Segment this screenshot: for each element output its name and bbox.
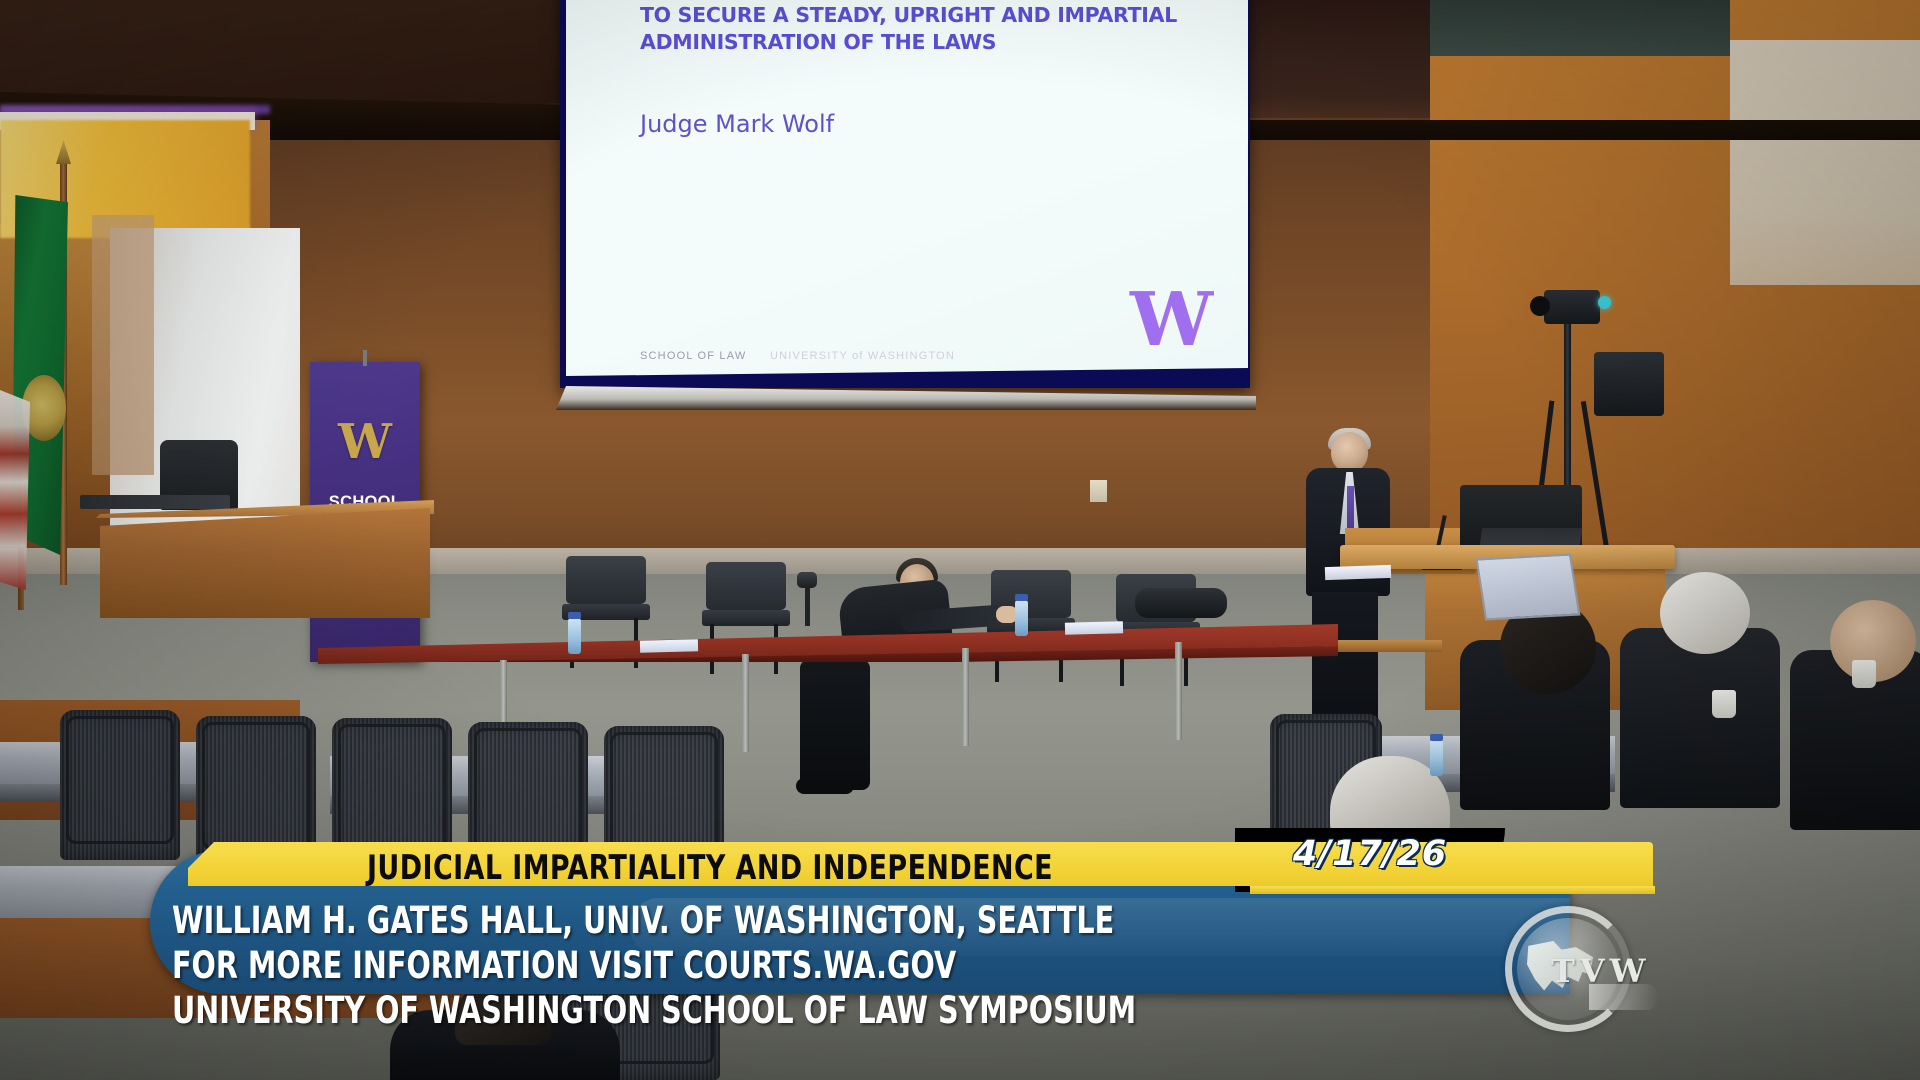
broadcast-video-frame: SCHOOL OF LAW TO SECURE A STEADY, UPRIGH… xyxy=(0,0,1920,1080)
speaker-lanyard xyxy=(1347,486,1354,530)
seated-person-shoe xyxy=(796,778,854,794)
water-bottle xyxy=(1430,740,1443,776)
table-leg xyxy=(1175,642,1182,740)
slide-title-line-1: TO SECURE A STEADY, UPRIGHT AND IMPARTIA… xyxy=(640,2,1240,29)
seated-person-legs xyxy=(800,660,870,790)
info-line-website: FOR MORE INFORMATION VISIT COURTS.WA.GOV xyxy=(172,943,1101,988)
paper-cup xyxy=(1712,690,1736,718)
water-bottle-cap xyxy=(1015,594,1028,601)
water-bottle xyxy=(1015,600,1028,636)
video-camera-icon xyxy=(1544,290,1600,324)
bench-equipment xyxy=(80,495,230,509)
audience-person-torso xyxy=(1620,628,1780,808)
program-headline: JUDICIAL IMPARTIALITY AND INDEPENDENCE xyxy=(217,848,1203,888)
audience-laptop xyxy=(1475,554,1580,621)
slide-title: TO SECURE A STEADY, UPRIGHT AND IMPARTIA… xyxy=(640,2,1240,56)
tvw-wordmark: TVW xyxy=(1551,952,1661,990)
chair-back xyxy=(706,562,786,610)
banner-stand-pole xyxy=(363,350,367,366)
podium-papers xyxy=(1325,565,1391,580)
water-bottle-cap xyxy=(568,612,581,619)
podium-side-shelf xyxy=(1322,640,1442,652)
table-leg xyxy=(742,654,749,752)
uw-w-logo-icon: W xyxy=(1130,288,1213,352)
speaker-head xyxy=(1331,432,1368,472)
lower-third-info-lines: WILLIAM H. GATES HALL, UNIV. OF WASHINGT… xyxy=(172,898,1252,1033)
lower-third-yellow-strip xyxy=(1250,886,1655,894)
table-microphone xyxy=(797,572,817,588)
lower-third-graphic: JUDICIAL IMPARTIALITY AND INDEPENDENCE 4… xyxy=(150,806,1650,994)
info-line-location: WILLIAM H. GATES HALL, UNIV. OF WASHINGT… xyxy=(172,898,1101,943)
equipment-case xyxy=(1135,588,1227,618)
info-line-event: UNIVERSITY OF WASHINGTON SCHOOL OF LAW S… xyxy=(172,988,1101,1033)
slide-footer-school: SCHOOL OF LAW xyxy=(640,350,746,362)
table-leg xyxy=(962,648,969,746)
broadcast-date: 4/17/26 xyxy=(1255,834,1485,874)
right-wall-upper-dark xyxy=(1430,0,1730,56)
water-bottle-cap xyxy=(1430,734,1443,741)
table-papers xyxy=(640,639,698,653)
wall-door-panel xyxy=(92,215,154,475)
tvw-logo: TVW xyxy=(1505,906,1655,1032)
judge-bench xyxy=(100,508,430,618)
wall-switch-plate xyxy=(1090,480,1107,502)
united-states-flag xyxy=(0,390,30,590)
table-papers xyxy=(1065,621,1123,635)
confidence-monitor xyxy=(1594,352,1664,416)
slide-footer-university: UNIVERSITY of WASHINGTON xyxy=(770,350,955,362)
camera-lens-icon xyxy=(1530,296,1550,316)
right-wall-beige-panel xyxy=(1730,40,1920,285)
water-bottle xyxy=(568,618,581,654)
uw-banner-w-logo-icon: W xyxy=(310,418,420,466)
audience-person-hair xyxy=(1660,572,1750,654)
paper-cup xyxy=(1852,660,1876,688)
slide-speaker-name: Judge Mark Wolf xyxy=(640,110,834,138)
slide-title-line-2: ADMINISTRATION OF THE LAWS xyxy=(640,29,1240,56)
chair-back xyxy=(566,556,646,604)
table-chair xyxy=(985,570,1077,682)
camera-indicator-light xyxy=(1598,296,1611,309)
